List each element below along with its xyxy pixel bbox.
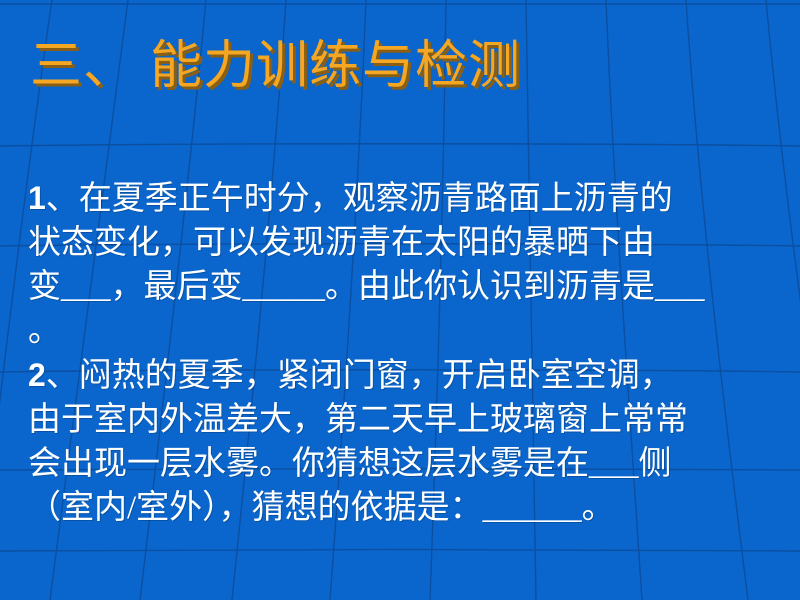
body-line-text: 会出现一层水雾。你猜想这层水雾是在___侧 — [28, 446, 672, 482]
body-line-text: 变___，最后变_____。由此你认识到沥青是___ — [28, 269, 705, 305]
slide-title: 三、 能力训练与检测 三、 能力训练与检测 — [30, 36, 770, 108]
body-line-text: 。 — [28, 313, 61, 349]
body-line-q1-l1: 1、在夏季正午时分，观察沥青路面上沥青的 — [28, 176, 788, 221]
body-line-q1-l3: 变___，最后变_____。由此你认识到沥青是___ — [28, 265, 788, 309]
body-line-q1-l2: 状态变化，可以发现沥青在太阳的暴晒下由 — [28, 221, 788, 265]
slide-title-text: 三、 能力训练与检测 — [30, 36, 521, 98]
body-line-q2-l1: 2、闷热的夏季，紧闭门窗，开启卧室空调， — [28, 353, 788, 398]
slide-body: 1、在夏季正午时分，观察沥青路面上沥青的 状态变化，可以发现沥青在太阳的暴晒下由… — [28, 176, 788, 530]
question-number-2: 2 — [28, 357, 46, 393]
presentation-slide: 三、 能力训练与检测 三、 能力训练与检测 1、在夏季正午时分，观察沥青路面上沥… — [0, 0, 800, 600]
question-number-1: 1 — [28, 180, 46, 216]
body-line-q2-l3: 会出现一层水雾。你猜想这层水雾是在___侧 — [28, 442, 788, 486]
body-line-q2-l4: （室内/室外），猜想的依据是：______。 — [28, 486, 788, 530]
body-line-text: 、在夏季正午时分，观察沥青路面上沥青的 — [46, 181, 673, 217]
body-line-q2-l2: 由于室内外温差大，第二天早上玻璃窗上常常 — [28, 398, 788, 442]
body-line-text: 、闷热的夏季，紧闭门窗，开启卧室空调， — [46, 358, 673, 394]
body-line-text: （室内/室外），猜想的依据是：______。 — [28, 490, 615, 526]
body-line-q1-l4: 。 — [28, 309, 788, 353]
body-line-text: 由于室内外温差大，第二天早上玻璃窗上常常 — [28, 402, 688, 438]
body-line-text: 状态变化，可以发现沥青在太阳的暴晒下由 — [28, 225, 655, 261]
